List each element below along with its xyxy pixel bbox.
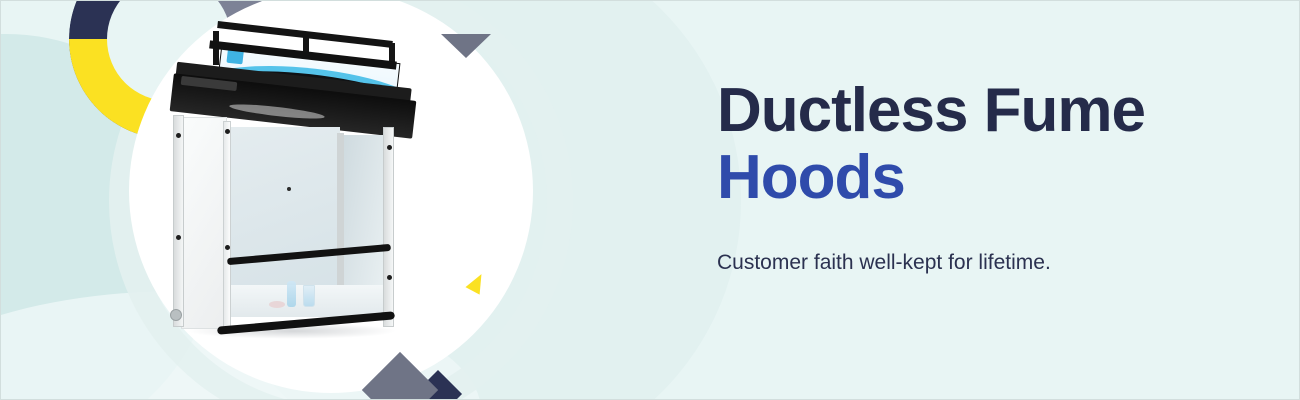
decorative-yellow-triangle: [465, 270, 488, 294]
banner-copy: Ductless Fume Hoods Customer faith well-…: [717, 79, 1277, 283]
frame-bolt: [176, 133, 181, 138]
headline-line-1: Ductless Fume: [717, 79, 1277, 142]
door-knob: [170, 309, 182, 321]
promo-banner: Ductless Fume Hoods Customer faith well-…: [0, 0, 1300, 400]
frame-bolt: [225, 245, 230, 250]
banner-headline: Ductless Fume Hoods: [717, 79, 1277, 209]
headline-line-2: Hoods: [717, 146, 1277, 209]
decorative-grey-diamond: [362, 352, 438, 400]
frame-bolt: [387, 275, 392, 280]
frame-post-right: [383, 127, 394, 327]
frame-bolt: [225, 129, 230, 134]
interior-vent-dot: [287, 187, 291, 191]
interior-right-wall: [339, 135, 385, 295]
banner-subtitle: Customer faith well-kept for lifetime.: [717, 243, 1067, 283]
lab-flask: [287, 281, 296, 307]
frame-post-middle: [223, 121, 231, 329]
side-panel: [181, 117, 227, 329]
decorative-grey-triangle: [441, 34, 491, 58]
decorative-navy-diamond: [414, 370, 462, 400]
lab-dish: [269, 301, 285, 308]
frame-post-inner: [337, 133, 344, 285]
frame-post-left: [173, 115, 184, 327]
interior-back-wall: [230, 127, 340, 297]
frame-bolt: [387, 145, 392, 150]
lab-beaker: [303, 285, 315, 307]
frame-bolt: [176, 235, 181, 240]
product-image: [151, 23, 421, 343]
